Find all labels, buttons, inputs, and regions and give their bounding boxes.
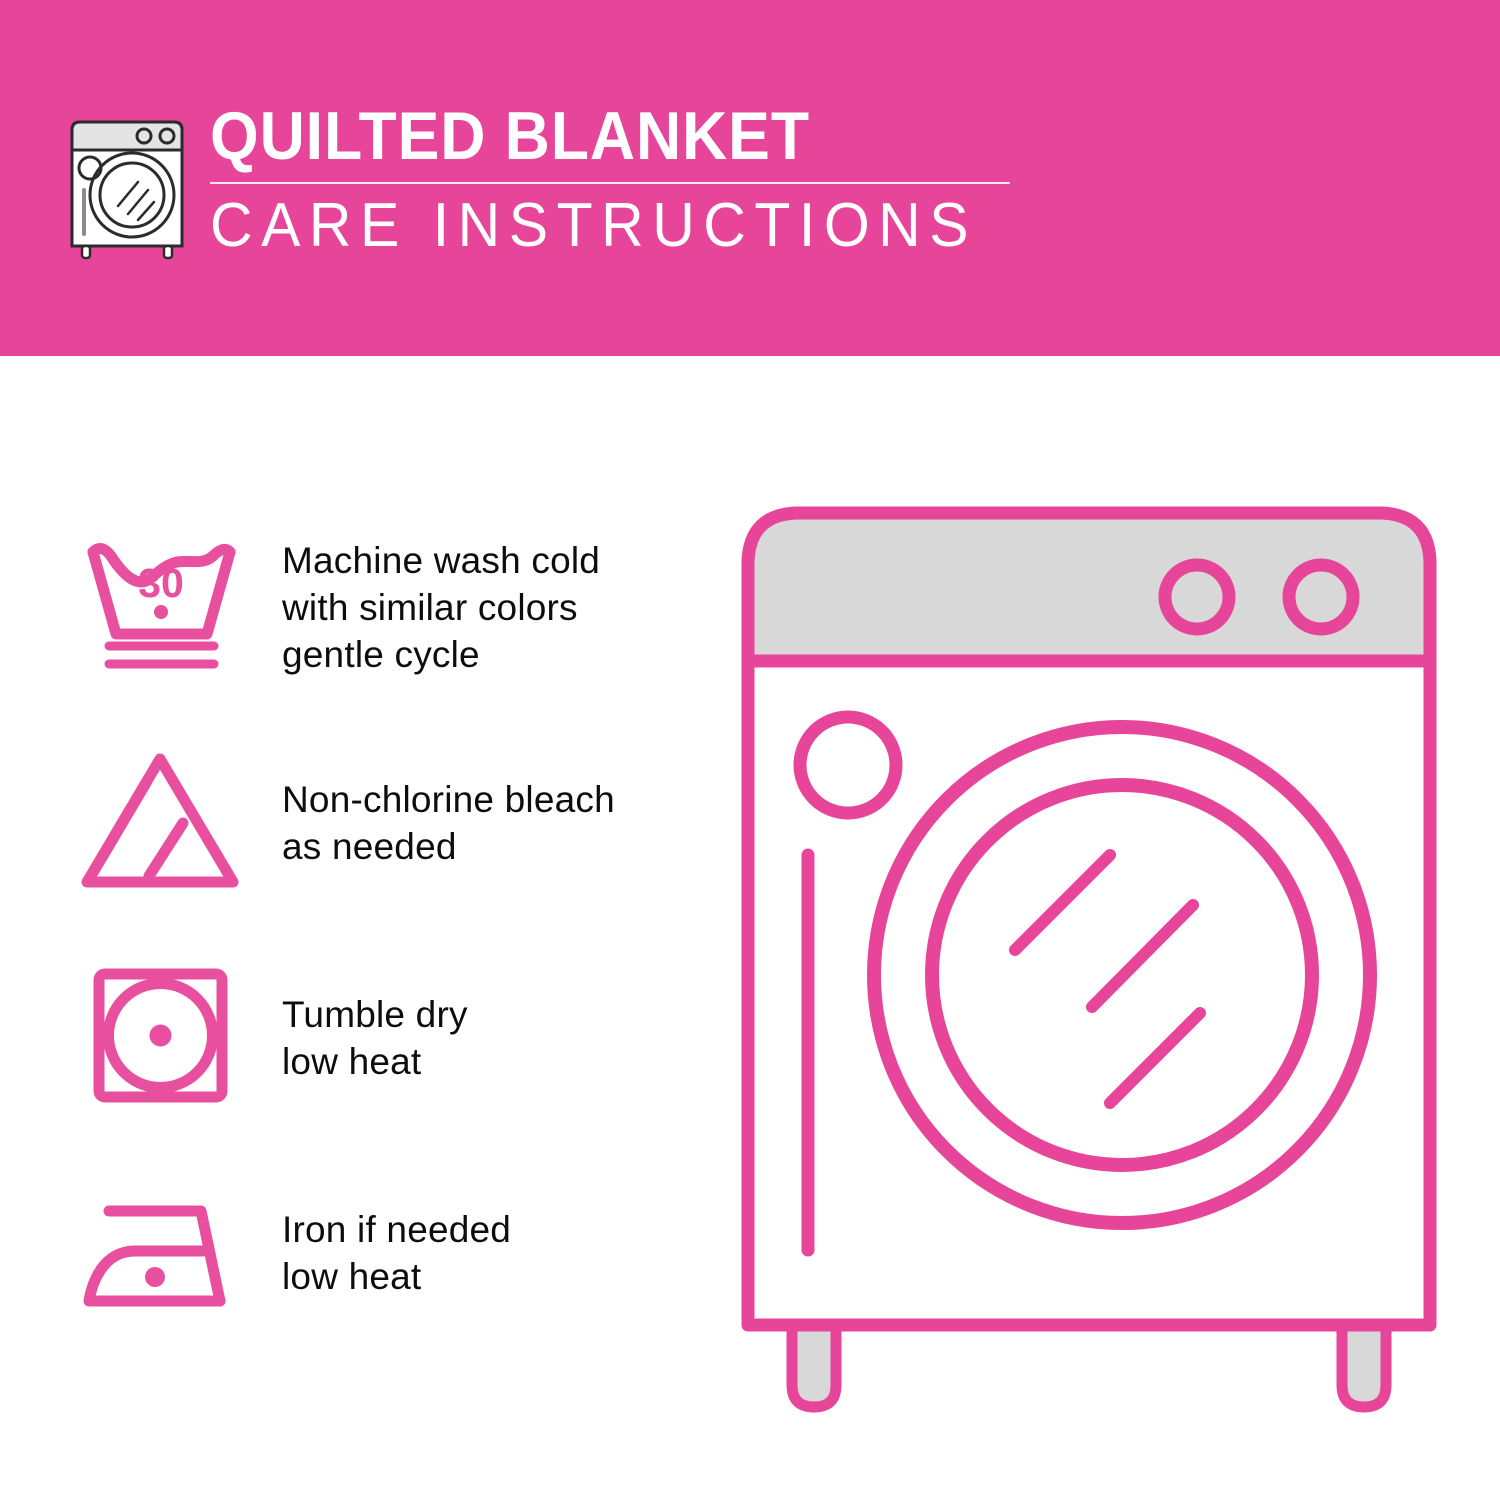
header-title-group: QUILTED BLANKET CARE INSTRUCTIONS — [210, 100, 1010, 260]
care-instruction-list: 30 Machine wash cold with similar colors… — [60, 500, 710, 1360]
care-symbol-slot — [60, 1175, 260, 1330]
title-divider — [210, 182, 1010, 184]
header-banner: QUILTED BLANKET CARE INSTRUCTIONS — [0, 0, 1500, 356]
care-label-iron: Iron if needed low heat — [282, 1206, 511, 1300]
care-symbol-slot: 30 — [60, 530, 260, 685]
care-row-wash: 30 Machine wash cold with similar colors… — [60, 500, 710, 715]
care-row-iron: Iron if needed low heat — [60, 1145, 710, 1360]
care-symbol-slot — [60, 745, 260, 900]
page-title: QUILTED BLANKET — [210, 100, 946, 172]
wash-temperature-label: 30 — [138, 560, 184, 606]
wash-tub-30-icon: 30 — [73, 530, 248, 685]
care-label-bleach: Non-chlorine bleach as needed — [282, 776, 615, 870]
washer-control-panel — [748, 513, 1430, 661]
page-subtitle: CARE INSTRUCTIONS — [210, 192, 970, 260]
care-label-wash: Machine wash cold with similar colors ge… — [282, 537, 600, 678]
front-load-washing-machine-illustration — [730, 495, 1460, 1425]
iron-low-heat-icon — [73, 1175, 248, 1330]
care-label-tumble-dry: Tumble dry low heat — [282, 991, 468, 1085]
care-row-bleach: Non-chlorine bleach as needed — [60, 715, 710, 930]
tumble-dry-low-icon — [73, 960, 248, 1115]
care-symbol-slot — [60, 960, 260, 1115]
washing-machine-icon — [62, 110, 192, 260]
header-content: QUILTED BLANKET CARE INSTRUCTIONS — [62, 100, 1010, 260]
non-chlorine-bleach-triangle-icon — [73, 745, 248, 900]
care-row-tumble-dry: Tumble dry low heat — [60, 930, 710, 1145]
